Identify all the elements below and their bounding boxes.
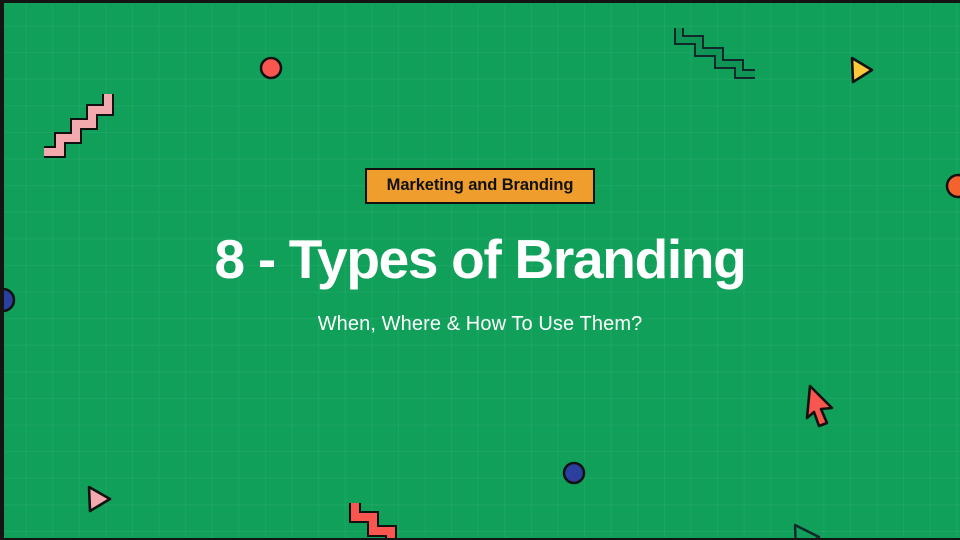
page-subtitle: When, Where & How To Use Them? <box>318 312 643 336</box>
slide-edge-top <box>0 0 960 3</box>
page-title: 8 - Types of Branding <box>215 231 746 289</box>
slide-edge-left <box>0 0 4 540</box>
category-badge: Marketing and Branding <box>365 168 596 204</box>
presentation-slide: Marketing and Branding 8 - Types of Bran… <box>0 0 960 540</box>
slide-content: Marketing and Branding 8 - Types of Bran… <box>0 0 960 540</box>
